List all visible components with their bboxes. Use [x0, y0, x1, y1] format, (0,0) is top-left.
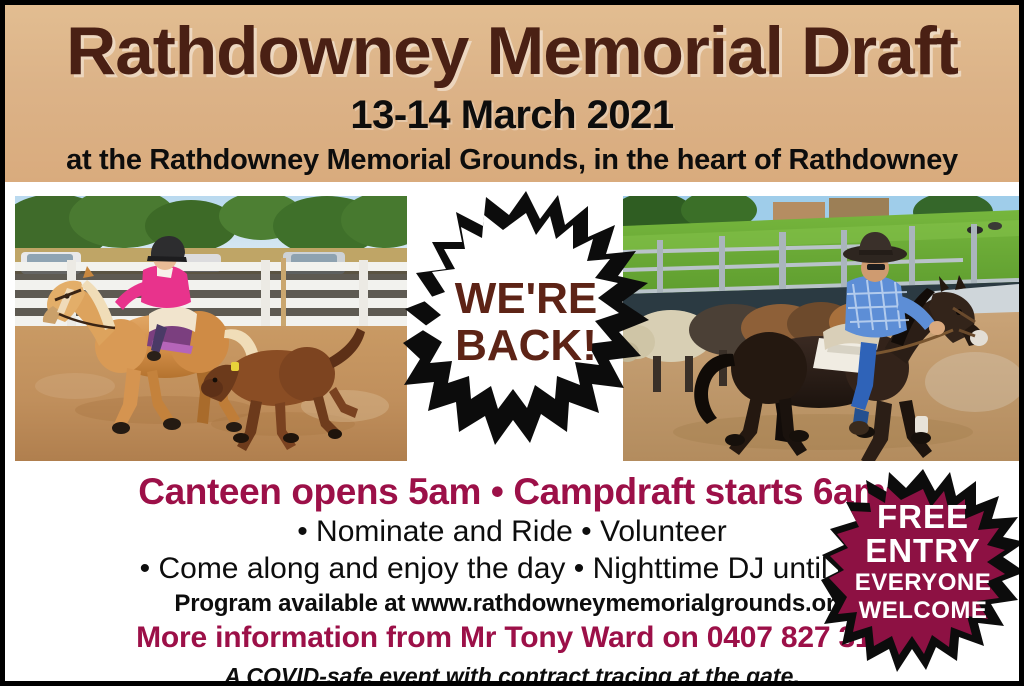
event-venue: at the Rathdowney Memorial Grounds, in t…	[5, 143, 1019, 177]
were-back-badge: WE'RE BACK!	[403, 189, 649, 467]
starburst-shape-icon	[403, 189, 649, 467]
event-date: 13-14 March 2021	[5, 93, 1019, 137]
campdraft-junior-rider-photo	[15, 196, 407, 461]
poster-title: Rathdowney Memorial Draft	[5, 11, 1019, 91]
starburst-shape-icon	[821, 467, 1024, 686]
poster-header-band: Rathdowney Memorial Draft 13-14 March 20…	[5, 5, 1019, 182]
stockman-cattle-illustration	[623, 196, 1019, 461]
free-entry-badge: FREE ENTRY EVERYONE WELCOME	[821, 467, 1024, 686]
junior-rider-illustration	[15, 196, 407, 461]
event-poster: Rathdowney Memorial Draft 13-14 March 20…	[0, 0, 1024, 686]
campdraft-stockman-cattle-photo	[623, 196, 1019, 461]
